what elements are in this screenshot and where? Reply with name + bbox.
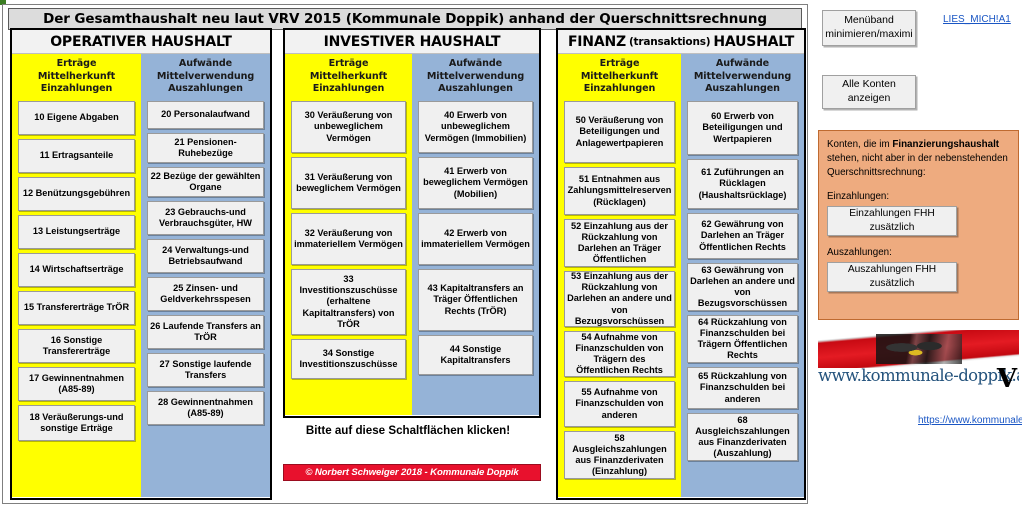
account-button-list: 40 Erwerb von unbeweglichem Vermögen (Im… (418, 101, 533, 379)
kommunale-doppik-logo[interactable]: www.kommunale-doppik.at V (818, 330, 1019, 398)
note-text-bold: Finanzierungshaushalt (892, 139, 999, 150)
col-head-line: Auszahlungen (687, 83, 798, 96)
einzahlungen-fhh-button[interactable]: Einzahlungen FHH zusätzlich (827, 206, 957, 236)
account-button[interactable]: 53 Einzahlung aus der Rückzahlung von Da… (564, 271, 675, 327)
column-aufwaende-investiv: Aufwände Mittelverwendung Auszahlungen 4… (412, 54, 539, 415)
account-button[interactable]: 58 Ausgleichszahlungen aus Finanzderivat… (564, 431, 675, 479)
account-button[interactable]: 34 Sonstige Investitionszuschüsse (291, 339, 406, 379)
column-header-ertraege: Erträge Mittelherkunft Einzahlungen (291, 54, 406, 101)
app-root: Der Gesamthaushalt neu laut VRV 2015 (Ko… (0, 0, 1022, 508)
account-button[interactable]: 12 Benützungsgebühren (18, 177, 135, 211)
account-button[interactable]: 44 Sonstige Kapitaltransfers (418, 335, 533, 375)
liesmich-link[interactable]: LIES_MICH!A1 (943, 14, 1011, 25)
account-button[interactable]: 64 Rückzahlung von Finanzschulden bei Tr… (687, 315, 798, 363)
col-head-line: Auszahlungen (418, 83, 533, 96)
copyright-banner: © Norbert Schweiger 2018 - Kommunale Dop… (283, 464, 541, 481)
column-ertraege-finanz: Erträge Mittelherkunft Einzahlungen 50 V… (558, 54, 681, 497)
einzahlungen-label: Einzahlungen: (827, 191, 1010, 202)
account-button[interactable]: 13 Leistungserträge (18, 215, 135, 249)
col-head-line: Einzahlungen (564, 83, 675, 96)
col-head-line: Mittelverwendung (147, 71, 264, 84)
page-title: Der Gesamthaushalt neu laut VRV 2015 (Ko… (8, 8, 802, 30)
column-header-ertraege: Erträge Mittelherkunft Einzahlungen (18, 54, 135, 101)
finanzierungshaushalt-note: Konten, die im Finanzierungshaushalt ste… (818, 130, 1019, 320)
account-button[interactable]: 27 Sonstige laufende Transfers (147, 353, 264, 387)
auszahlungen-fhh-button[interactable]: Auszahlungen FHH zusätzlich (827, 262, 957, 292)
account-button[interactable]: 20 Personalaufwand (147, 101, 264, 129)
col-head-line: Mittelverwendung (418, 71, 533, 84)
col-head-line: Erträge (18, 58, 135, 71)
column-aufwaende-operativ: Aufwände Mittelverwendung Auszahlungen 2… (141, 54, 270, 497)
account-button[interactable]: 28 Gewinnentnahmen (A85-89) (147, 391, 264, 425)
account-button[interactable]: 11 Ertragsanteile (18, 139, 135, 173)
column-header-aufwaende: Aufwände Mittelverwendung Auszahlungen (418, 54, 533, 101)
account-button[interactable]: 52 Einzahlung aus der Rückzahlung von Da… (564, 219, 675, 267)
click-hint-text: Bitte auf diese Schaltflächen klicken! (283, 424, 533, 437)
account-button-list: 60 Erwerb von Beteiligungen und Wertpapi… (687, 101, 798, 465)
col-head-line: Mittelverwendung (687, 71, 798, 84)
account-button[interactable]: 65 Rückzahlung von Finanzschulden bei an… (687, 367, 798, 409)
panel-investiver-haushalt: INVESTIVER HAUSHALT Erträge Mittelherkun… (283, 28, 541, 418)
account-button[interactable]: 54 Aufnahme von Finanzschulden von Träge… (564, 331, 675, 377)
panel-title-operativ: OPERATIVER HAUSHALT (12, 30, 270, 54)
panel-title-finanz-tail: HAUSHALT (713, 34, 794, 50)
account-button[interactable]: 23 Gebrauchs-und Verbrauchsgüter, HW (147, 201, 264, 235)
account-button[interactable]: 31 Veräußerung von beweglichem Vermögen (291, 157, 406, 209)
column-header-ertraege: Erträge Mittelherkunft Einzahlungen (564, 54, 675, 101)
account-button[interactable]: 21 Pensionen-Ruhebezüge (147, 133, 264, 163)
account-button[interactable]: 32 Veräußerung von immateriellem Vermöge… (291, 213, 406, 265)
panel-finanz-haushalt: FINANZ (transaktions) HAUSHALT Erträge M… (556, 28, 806, 500)
logo-url-text: www.kommunale-doppik.at (818, 366, 1019, 385)
column-header-aufwaende: Aufwände Mittelverwendung Auszahlungen (687, 54, 798, 101)
account-button[interactable]: 51 Entnahmen aus Zahlungsmittelreserven … (564, 167, 675, 215)
account-button[interactable]: 61 Zuführungen an Rücklagen (Haushaltsrü… (687, 159, 798, 209)
account-button[interactable]: 25 Zinsen- und Geldverkehrsspesen (147, 277, 264, 311)
panel-operativer-haushalt: OPERATIVER HAUSHALT Erträge Mittelherkun… (10, 28, 272, 500)
account-button[interactable]: 50 Veräußerung von Beteiligungen und Anl… (564, 101, 675, 163)
account-button[interactable]: 63 Gewährung von Darlehen an andere und … (687, 263, 798, 311)
auszahlungen-label: Auszahlungen: (827, 247, 1010, 258)
col-head-line: Mittelherkunft (18, 71, 135, 84)
account-button[interactable]: 16 Sonstige Transfererträge (18, 329, 135, 363)
account-button[interactable]: 41 Erwerb von beweglichem Vermögen (Mobi… (418, 157, 533, 209)
column-aufwaende-finanz: Aufwände Mittelverwendung Auszahlungen 6… (681, 54, 804, 497)
account-button[interactable]: 18 Veräußerungs-und sonstige Erträge (18, 405, 135, 441)
account-button[interactable]: 33 Investitionszuschüsse (erhaltene Kapi… (291, 269, 406, 335)
account-button[interactable]: 22 Bezüge der gewählten Organe (147, 167, 264, 197)
account-button-list: 10 Eigene Abgaben 11 Ertragsanteile 12 B… (18, 101, 135, 445)
column-ertraege-operativ: Erträge Mittelherkunft Einzahlungen 10 E… (12, 54, 141, 497)
account-button-list: 50 Veräußerung von Beteiligungen und Anl… (564, 101, 675, 483)
col-head-line: Aufwände (147, 58, 264, 71)
col-head-line: Auszahlungen (147, 83, 264, 96)
account-button[interactable]: 62 Gewährung von Darlehen an Träger Öffe… (687, 213, 798, 259)
col-head-line: Mittelherkunft (291, 71, 406, 84)
panel-title-finanz-small: (transaktions) (629, 36, 710, 48)
account-button[interactable]: 14 Wirtschaftserträge (18, 253, 135, 287)
col-head-line: Aufwände (687, 58, 798, 71)
account-button[interactable]: 17 Gewinnentnahmen (A85-89) (18, 367, 135, 401)
account-button[interactable]: 40 Erwerb von unbeweglichem Vermögen (Im… (418, 101, 533, 153)
account-button[interactable]: 24 Verwaltungs-und Betriebsaufwand (147, 239, 264, 273)
col-head-line: Erträge (564, 58, 675, 71)
note-text-2: stehen, nicht aber in der nebenstehenden (827, 153, 1008, 164)
column-header-aufwaende: Aufwände Mittelverwendung Auszahlungen (147, 54, 264, 101)
panel-title-finanz-main: FINANZ (568, 34, 626, 50)
logo-v-mark: V (997, 366, 1017, 392)
col-head-line: Einzahlungen (291, 83, 406, 96)
account-button[interactable]: 55 Aufnahme von Finanzschulden von ander… (564, 381, 675, 427)
account-button[interactable]: 10 Eigene Abgaben (18, 101, 135, 135)
account-button[interactable]: 43 Kapitaltransfers an Träger Öffentlich… (418, 269, 533, 331)
account-button-list: 20 Personalaufwand 21 Pensionen-Ruhebezü… (147, 101, 264, 429)
col-head-line: Aufwände (418, 58, 533, 71)
account-button[interactable]: 60 Erwerb von Beteiligungen und Wertpapi… (687, 101, 798, 155)
eagle-icon (876, 334, 962, 364)
column-ertraege-investiv: Erträge Mittelherkunft Einzahlungen 30 V… (285, 54, 412, 415)
account-button[interactable]: 26 Laufende Transfers an TrÖR (147, 315, 264, 349)
toggle-ribbon-button[interactable]: Menüband minimieren/maximi (822, 10, 916, 46)
col-head-line: Mittelherkunft (564, 71, 675, 84)
col-head-line: Erträge (291, 58, 406, 71)
panel-title-finanz: FINANZ (transaktions) HAUSHALT (558, 30, 804, 54)
col-head-line: Einzahlungen (18, 83, 135, 96)
show-all-accounts-button[interactable]: Alle Konten anzeigen (822, 75, 916, 109)
account-button[interactable]: 15 Transfererträge TrÖR (18, 291, 135, 325)
note-text-1: Konten, die im (827, 139, 892, 150)
panel-title-investiv: INVESTIVER HAUSHALT (285, 30, 539, 54)
account-button[interactable]: 42 Erwerb von immateriellem Vermögen (418, 213, 533, 265)
account-button[interactable]: 30 Veräußerung von unbeweglichem Vermöge… (291, 101, 406, 153)
note-text-3: Querschnittsrechnung: (827, 167, 926, 178)
note-paragraph: Konten, die im Finanzierungshaushalt ste… (827, 138, 1010, 180)
account-button-list: 30 Veräußerung von unbeweglichem Vermöge… (291, 101, 406, 383)
website-link[interactable]: https://www.kommunale-doppik.at (918, 415, 1022, 426)
account-button[interactable]: 68 Ausgleichszahlungen aus Finanzderivat… (687, 413, 798, 461)
